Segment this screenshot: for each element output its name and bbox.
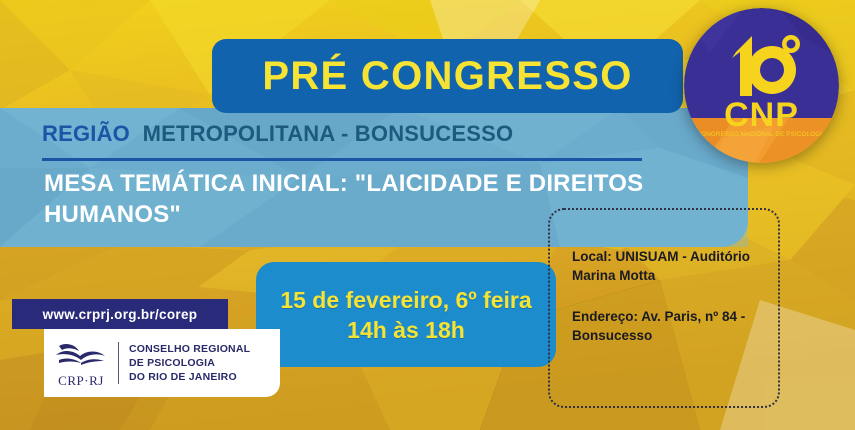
svg-text:CONGRESSO NACIONAL DE PSICOLOG: CONGRESSO NACIONAL DE PSICOLOGIA [697,131,828,138]
venue-local: Local: UNISUAM - Auditório Marina Motta [572,247,787,285]
svg-text:CNP: CNP [724,96,799,134]
cnp-logo: CNP CONGRESSO NACIONAL DE PSICOLOGIA [684,8,839,163]
venue-endereco: Endereço: Av. Paris, nº 84 - Bonsucesso [572,307,787,345]
crp-mark-wordmark: CRP·RJ [58,373,104,389]
crp-line-1: CONSELHO REGIONAL [129,342,250,356]
bird-book-glyph [53,342,109,372]
cnp-logo-graphic: CNP CONGRESSO NACIONAL DE PSICOLOGIA [684,8,839,163]
poster-canvas: PRÉ CONGRESSO REGIÃO METROPOLITANA - BON… [0,0,855,430]
divider-rule [42,158,642,161]
crp-line-2: DE PSICOLOGIA [129,356,250,370]
pre-congresso-title-bar: PRÉ CONGRESSO [212,39,683,113]
time-line: 14h às 18h [347,315,465,345]
region-word-metropolitana: METROPOLITANA - BONSUCESSO [143,121,514,146]
crp-rj-logo-card: CRP·RJ CONSELHO REGIONAL DE PSICOLOGIA D… [44,329,280,397]
date-line: 15 de fevereiro, 6º feira [280,285,531,315]
venue-info-text: Local: UNISUAM - Auditório Marina Motta … [572,247,787,345]
crp-fullname: CONSELHO REGIONAL DE PSICOLOGIA DO RIO D… [119,342,250,384]
region-word-regiao: REGIÃO [42,121,130,146]
crp-line-3: DO RIO DE JANEIRO [129,370,250,384]
page-title: PRÉ CONGRESSO [262,56,632,96]
crp-divider [118,342,119,384]
website-url-bar[interactable]: www.crprj.org.br/corep [12,299,228,329]
website-url-text: www.crprj.org.br/corep [43,307,198,322]
region-subtitle: REGIÃO METROPOLITANA - BONSUCESSO [42,121,513,147]
date-time-box: 15 de fevereiro, 6º feira 14h às 18h [256,262,556,367]
crp-bird-book-icon: CRP·RJ [44,329,118,397]
